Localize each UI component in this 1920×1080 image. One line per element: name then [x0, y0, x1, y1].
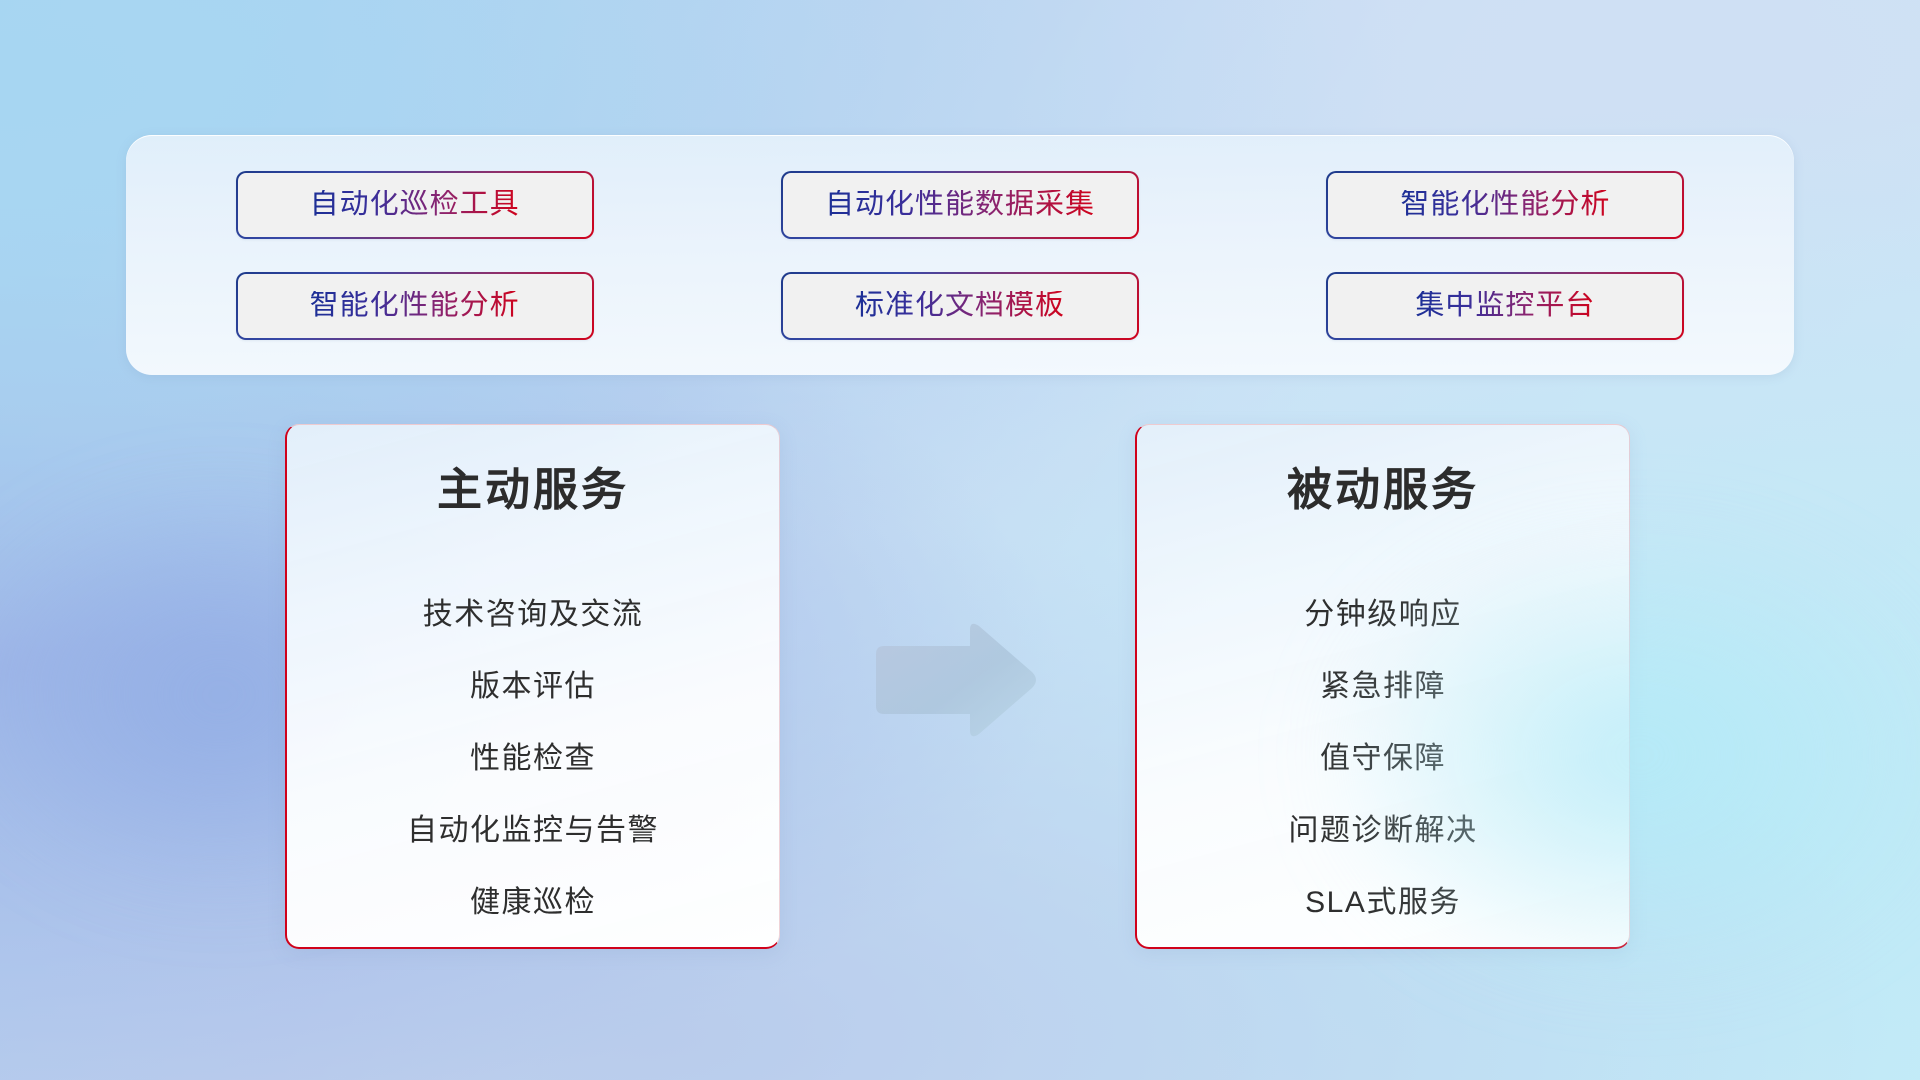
list-item: 值守保障 [1320, 723, 1446, 795]
capability-pill-4-label: 智能化性能分析 [310, 291, 520, 320]
list-item: 性能检查 [470, 723, 596, 795]
capability-pill-2[interactable]: 自动化性能数据采集 [781, 171, 1139, 239]
list-item: 技术咨询及交流 [423, 579, 644, 651]
service-card-active-title: 主动服务 [437, 465, 629, 515]
list-item: 自动化监控与告警 [407, 795, 659, 867]
capability-pill-3[interactable]: 智能化性能分析 [1326, 171, 1684, 239]
list-item: 分钟级响应 [1304, 579, 1462, 651]
arrow-right-icon [870, 620, 1040, 740]
list-item: 版本评估 [470, 651, 596, 723]
capability-pill-1-label: 自动化巡检工具 [310, 190, 520, 219]
capability-pill-2-label: 自动化性能数据采集 [825, 190, 1095, 219]
list-item: 健康巡检 [470, 867, 596, 939]
capability-pill-5-label: 标准化文档模板 [855, 291, 1065, 320]
capability-pill-4[interactable]: 智能化性能分析 [236, 272, 594, 340]
list-item: 紧急排障 [1320, 651, 1446, 723]
service-card-passive-list: 分钟级响应 紧急排障 值守保障 问题诊断解决 SLA式服务 [1159, 579, 1607, 939]
capabilities-panel: 自动化巡检工具 自动化性能数据采集 智能化性能分析 智能化性能分析 标准化文档模… [126, 135, 1794, 375]
list-item: 问题诊断解决 [1289, 795, 1478, 867]
service-card-passive[interactable]: 被动服务 分钟级响应 紧急排障 值守保障 问题诊断解决 SLA式服务 [1135, 424, 1630, 949]
slide-canvas: 自动化巡检工具 自动化性能数据采集 智能化性能分析 智能化性能分析 标准化文档模… [0, 0, 1920, 1080]
service-card-active[interactable]: 主动服务 技术咨询及交流 版本评估 性能检查 自动化监控与告警 健康巡检 [285, 424, 780, 949]
capability-pill-1[interactable]: 自动化巡检工具 [236, 171, 594, 239]
service-card-passive-title: 被动服务 [1287, 465, 1479, 515]
capability-pill-5[interactable]: 标准化文档模板 [781, 272, 1139, 340]
capability-pill-6-label: 集中监控平台 [1415, 291, 1595, 320]
capability-pill-3-label: 智能化性能分析 [1400, 190, 1610, 219]
capability-pill-6[interactable]: 集中监控平台 [1326, 272, 1684, 340]
list-item: SLA式服务 [1305, 867, 1461, 939]
service-card-active-list: 技术咨询及交流 版本评估 性能检查 自动化监控与告警 健康巡检 [309, 579, 757, 939]
